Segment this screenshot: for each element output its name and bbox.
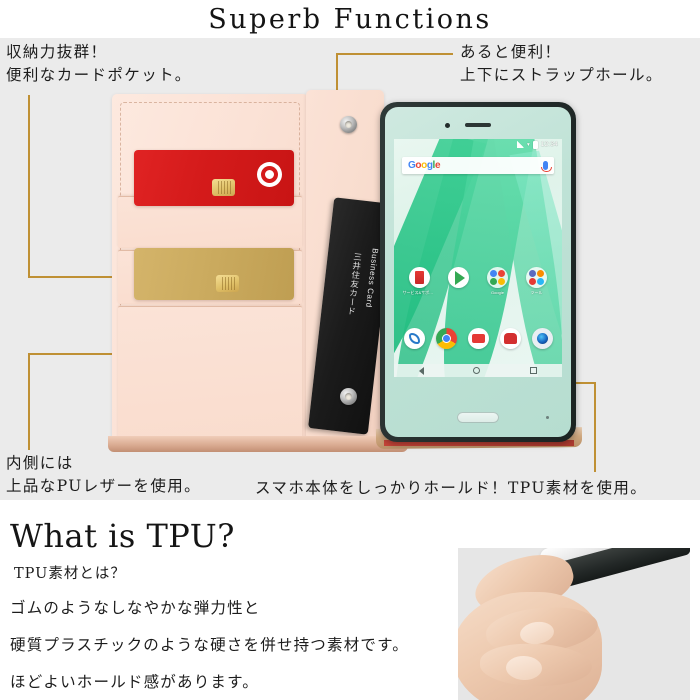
tpu-body-line-1: ゴムのようなしなやかな弾力性と bbox=[10, 596, 261, 618]
infographic-page: Superb Functions 収納力抜群！ 便利なカードポケット。 あると便… bbox=[0, 0, 700, 700]
home-button[interactable] bbox=[457, 412, 499, 423]
sensor-dot bbox=[546, 416, 549, 419]
message-icon[interactable] bbox=[468, 328, 489, 349]
strap-hole-grommet-top bbox=[340, 116, 357, 133]
tpu-demo-photo bbox=[458, 548, 690, 700]
play-store-icon bbox=[448, 267, 469, 288]
page-title: Superb Functions bbox=[0, 4, 700, 35]
front-camera-icon bbox=[445, 123, 450, 128]
battery-icon bbox=[533, 141, 538, 149]
red-app-icon[interactable] bbox=[500, 328, 521, 349]
app-icon-play-store[interactable] bbox=[446, 267, 472, 290]
card-chip-icon bbox=[216, 275, 239, 292]
leader-line-tpu-vertical bbox=[594, 382, 596, 472]
app-dock bbox=[398, 325, 558, 351]
home-icon[interactable] bbox=[473, 367, 480, 374]
annotation-card-pocket: 収納力抜群！ 便利なカードポケット。 bbox=[6, 41, 192, 87]
tpu-subheading: TPU素材とは？ bbox=[14, 562, 126, 583]
tools-folder-icon bbox=[526, 267, 547, 288]
app-row: サービス&サポート bbox=[400, 267, 556, 313]
back-icon[interactable] bbox=[419, 367, 424, 375]
annotation-pu-leather-line2: 上品なPUレザーを使用。 bbox=[6, 475, 201, 498]
navigation-bar bbox=[394, 364, 562, 377]
tpu-body-line-2: 硬質プラスチックのような硬さを併せ持つ素材です。 bbox=[10, 633, 409, 655]
annotation-strap-hole: あると便利！ 上下にストラップホール。 bbox=[460, 41, 663, 87]
smartphone: ▾ 12:34 Google bbox=[380, 102, 576, 442]
microphone-icon[interactable] bbox=[543, 161, 548, 170]
card-pocket-3 bbox=[118, 306, 302, 448]
case-bottom-edge-left bbox=[108, 436, 408, 452]
google-search-bar[interactable]: Google bbox=[402, 157, 554, 174]
app-folder-google[interactable]: Google bbox=[485, 267, 511, 295]
annotation-strap-hole-line1: あると便利！ bbox=[460, 41, 663, 64]
signal-icon bbox=[517, 141, 524, 148]
product-photo-wallet-case: Business Card 三井住友カード bbox=[108, 88, 580, 458]
phone-front-panel: ▾ 12:34 Google bbox=[385, 107, 571, 437]
google-folder-icon bbox=[487, 267, 508, 288]
red-app-icon bbox=[409, 267, 430, 288]
app-icon-service-support[interactable]: サービス&サポート bbox=[407, 267, 433, 296]
tpu-heading: What is TPU? bbox=[10, 517, 235, 555]
wifi-icon: ▾ bbox=[527, 142, 530, 148]
annotation-strap-hole-line2: 上下にストラップホール。 bbox=[460, 64, 663, 87]
annotation-card-pocket-line1: 収納力抜群！ bbox=[6, 41, 192, 64]
leader-line-strap-hole-horizontal bbox=[336, 53, 453, 55]
business-card-label-en: Business Card bbox=[364, 248, 380, 308]
recents-icon[interactable] bbox=[530, 367, 537, 374]
camera-icon[interactable] bbox=[532, 328, 553, 349]
earpiece-speaker bbox=[465, 123, 491, 127]
google-logo: Google bbox=[408, 161, 440, 171]
gold-credit-card bbox=[134, 248, 294, 300]
app-label: Google bbox=[491, 290, 504, 295]
status-clock: 12:34 bbox=[541, 141, 558, 148]
annotation-tpu-hold: スマホ本体をしっかりホールド！TPU素材を使用。 bbox=[255, 477, 647, 500]
annotation-card-pocket-line2: 便利なカードポケット。 bbox=[6, 64, 192, 87]
strap-hole-grommet-bottom bbox=[340, 388, 357, 405]
app-label: ツール bbox=[531, 290, 543, 296]
business-card-label-jp: 三井住友カード bbox=[345, 252, 364, 317]
red-credit-card bbox=[134, 150, 294, 206]
tpu-section: What is TPU? TPU素材とは？ ゴムのようなしなやかな弾力性と 硬質… bbox=[0, 500, 700, 700]
status-bar: ▾ 12:34 bbox=[394, 139, 562, 150]
annotation-pu-leather: 内側には 上品なPUレザーを使用。 bbox=[6, 452, 201, 498]
phone-icon[interactable] bbox=[404, 328, 425, 349]
tpu-body-line-3: ほどよいホールド感があります。 bbox=[10, 670, 259, 692]
app-label: サービス&サポート bbox=[403, 290, 437, 296]
phone-screen: ▾ 12:34 Google bbox=[394, 139, 562, 377]
card-chip-icon bbox=[212, 179, 235, 196]
leader-line-pu-leather-vertical bbox=[28, 353, 30, 450]
leader-line-card-pocket-vertical bbox=[28, 95, 30, 278]
app-folder-tools[interactable]: ツール bbox=[524, 267, 550, 296]
chrome-icon[interactable] bbox=[436, 328, 457, 349]
